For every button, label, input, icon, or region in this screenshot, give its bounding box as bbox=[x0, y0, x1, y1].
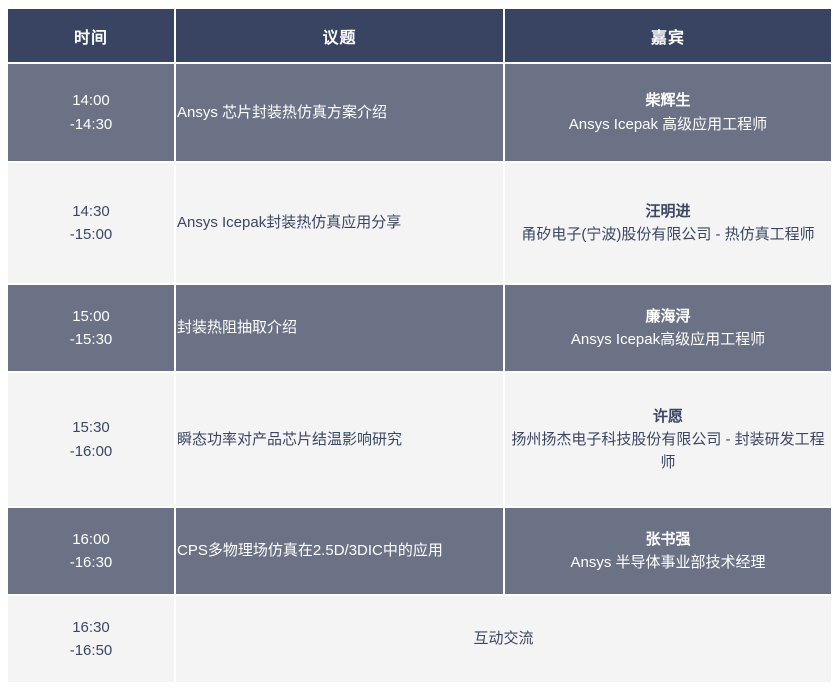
cell-topic: 封装热阻抽取介绍 bbox=[176, 285, 503, 371]
cell-guest: 柴辉生Ansys Icepak 高级应用工程师 bbox=[505, 64, 831, 161]
agenda-container: 时间 议题 嘉宾 14:00-14:30Ansys 芯片封装热仿真方案介绍柴辉生… bbox=[0, 0, 833, 692]
column-header-guest: 嘉宾 bbox=[505, 9, 831, 62]
guest-name: 许愿 bbox=[511, 405, 825, 428]
time-end: -16:50 bbox=[8, 639, 174, 662]
table-row: 15:30-16:00瞬态功率对产品芯片结温影响研究许愿扬州扬杰电子科技股份有限… bbox=[8, 373, 831, 506]
cell-topic: Ansys 芯片封装热仿真方案介绍 bbox=[176, 64, 503, 161]
cell-time: 16:00-16:30 bbox=[8, 508, 174, 594]
time-end: -16:30 bbox=[8, 551, 174, 574]
table-row: 14:00-14:30Ansys 芯片封装热仿真方案介绍柴辉生Ansys Ice… bbox=[8, 64, 831, 161]
time-end: -15:00 bbox=[8, 223, 174, 246]
table-row: 14:30-15:00Ansys Icepak封装热仿真应用分享汪明进甬矽电子(… bbox=[8, 163, 831, 283]
cell-time: 14:30-15:00 bbox=[8, 163, 174, 283]
cell-guest: 许愿扬州扬杰电子科技股份有限公司 - 封装研发工程师 bbox=[505, 373, 831, 506]
time-end: -16:00 bbox=[8, 440, 174, 463]
guest-role: Ansys 半导体事业部技术经理 bbox=[511, 551, 825, 574]
cell-topic: 瞬态功率对产品芯片结温影响研究 bbox=[176, 373, 503, 506]
table-row: 16:30-16:50互动交流 bbox=[8, 596, 831, 682]
cell-time: 15:30-16:00 bbox=[8, 373, 174, 506]
table-header: 时间 议题 嘉宾 bbox=[8, 9, 831, 62]
table-row: 15:00-15:30封装热阻抽取介绍廉海浔Ansys Icepak高级应用工程… bbox=[8, 285, 831, 371]
guest-role: Ansys Icepak高级应用工程师 bbox=[511, 328, 825, 351]
cell-guest: 廉海浔Ansys Icepak高级应用工程师 bbox=[505, 285, 831, 371]
time-end: -15:30 bbox=[8, 328, 174, 351]
cell-topic: CPS多物理场仿真在2.5D/3DIC中的应用 bbox=[176, 508, 503, 594]
guest-role: 甬矽电子(宁波)股份有限公司 - 热仿真工程师 bbox=[511, 223, 825, 246]
guest-name: 汪明进 bbox=[511, 200, 825, 223]
time-start: 14:00 bbox=[8, 89, 174, 112]
header-row: 时间 议题 嘉宾 bbox=[8, 9, 831, 62]
table-body: 14:00-14:30Ansys 芯片封装热仿真方案介绍柴辉生Ansys Ice… bbox=[8, 64, 831, 682]
time-start: 14:30 bbox=[8, 200, 174, 223]
time-start: 15:30 bbox=[8, 416, 174, 439]
time-end: -14:30 bbox=[8, 113, 174, 136]
time-start: 16:00 bbox=[8, 528, 174, 551]
agenda-table: 时间 议题 嘉宾 14:00-14:30Ansys 芯片封装热仿真方案介绍柴辉生… bbox=[6, 7, 833, 684]
time-start: 16:30 bbox=[8, 616, 174, 639]
cell-topic: Ansys Icepak封装热仿真应用分享 bbox=[176, 163, 503, 283]
time-start: 15:00 bbox=[8, 305, 174, 328]
guest-name: 柴辉生 bbox=[511, 89, 825, 112]
guest-name: 张书强 bbox=[511, 528, 825, 551]
guest-role: Ansys Icepak 高级应用工程师 bbox=[511, 113, 825, 136]
cell-merged-session: 互动交流 bbox=[176, 596, 831, 682]
column-header-time: 时间 bbox=[8, 9, 174, 62]
table-row: 16:00-16:30CPS多物理场仿真在2.5D/3DIC中的应用张书强Ans… bbox=[8, 508, 831, 594]
cell-time: 15:00-15:30 bbox=[8, 285, 174, 371]
cell-guest: 张书强Ansys 半导体事业部技术经理 bbox=[505, 508, 831, 594]
cell-time: 16:30-16:50 bbox=[8, 596, 174, 682]
column-header-topic: 议题 bbox=[176, 9, 503, 62]
cell-guest: 汪明进甬矽电子(宁波)股份有限公司 - 热仿真工程师 bbox=[505, 163, 831, 283]
guest-name: 廉海浔 bbox=[511, 305, 825, 328]
cell-time: 14:00-14:30 bbox=[8, 64, 174, 161]
guest-role: 扬州扬杰电子科技股份有限公司 - 封装研发工程师 bbox=[511, 428, 825, 475]
